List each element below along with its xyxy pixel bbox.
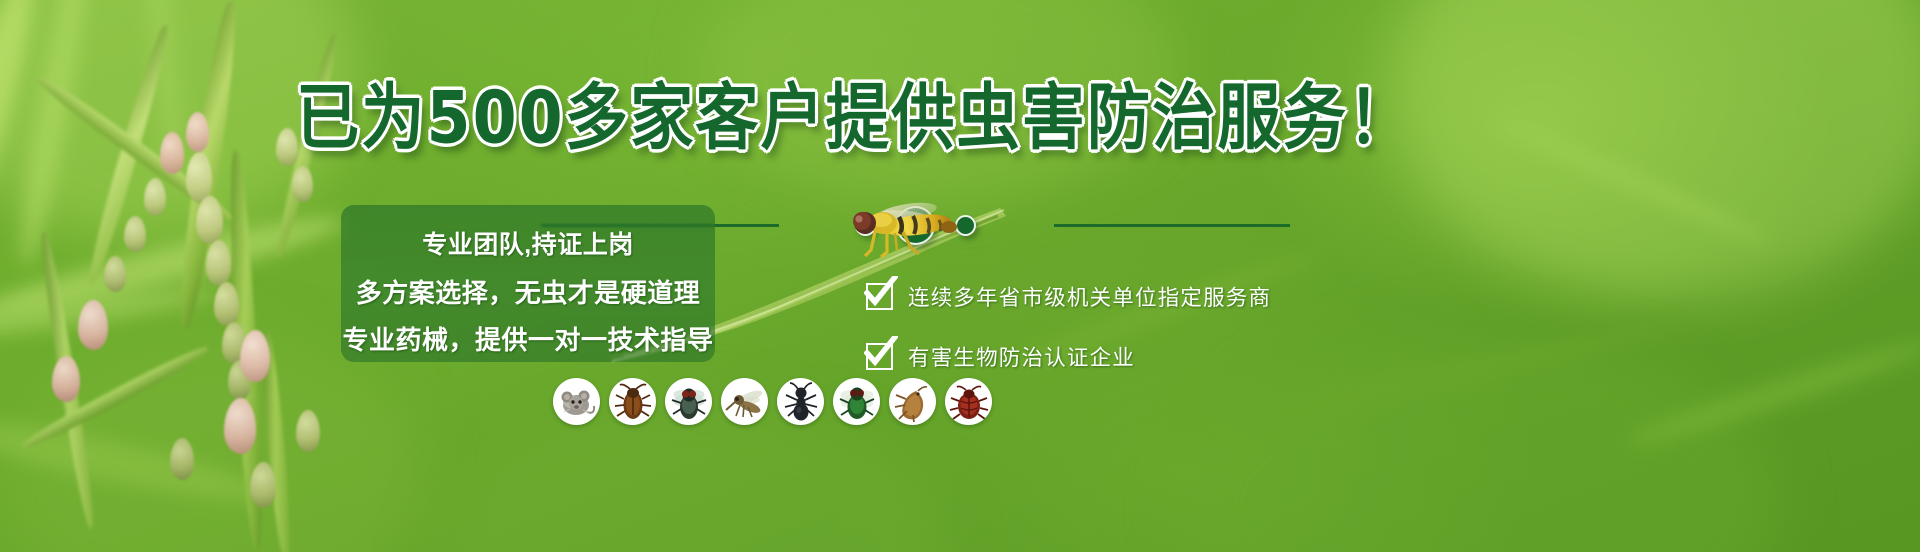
divider-line-right [1054, 224, 1290, 227]
selling-point-3: 专业药械，提供一对一技术指导 [341, 320, 715, 357]
checklist-item-label: 连续多年省市级机关单位指定服务商 [908, 281, 1271, 312]
page-title: 已为500多家客户提供虫害防治服务！ [296, 74, 1306, 162]
mosquito-icon[interactable] [721, 378, 768, 425]
checklist-item-label: 有害生物防治认证企业 [908, 341, 1135, 372]
checklist-item: 有害生物防治认证企业 [866, 332, 1296, 380]
pest-icon-row [553, 378, 992, 425]
hoverfly-icon [845, 198, 963, 260]
checkbox-checked-icon [866, 343, 893, 370]
selling-point-2: 多方案选择，无虫才是硬道理 [341, 273, 715, 310]
selling-points-panel: 专业团队,持证上岗 多方案选择，无虫才是硬道理 专业药械，提供一对一技术指导 [341, 205, 715, 362]
checkbox-checked-icon [866, 283, 893, 310]
flea-icon[interactable] [889, 378, 936, 425]
bedbug-icon[interactable] [945, 378, 992, 425]
promo-banner: 已为500多家客户提供虫害防治服务！ 专业团队,持证上岗 多方案选择，无虫才是硬… [0, 0, 1920, 552]
greenfly-icon[interactable] [833, 378, 880, 425]
housefly-icon[interactable] [665, 378, 712, 425]
credentials-checklist: 连续多年省市级机关单位指定服务商 有害生物防治认证企业 [866, 272, 1296, 392]
cockroach-icon[interactable] [609, 378, 656, 425]
rodent-icon[interactable] [553, 378, 600, 425]
checklist-item: 连续多年省市级机关单位指定服务商 [866, 272, 1296, 320]
selling-point-1: 专业团队,持证上岗 [341, 225, 715, 261]
ant-icon[interactable] [777, 378, 824, 425]
